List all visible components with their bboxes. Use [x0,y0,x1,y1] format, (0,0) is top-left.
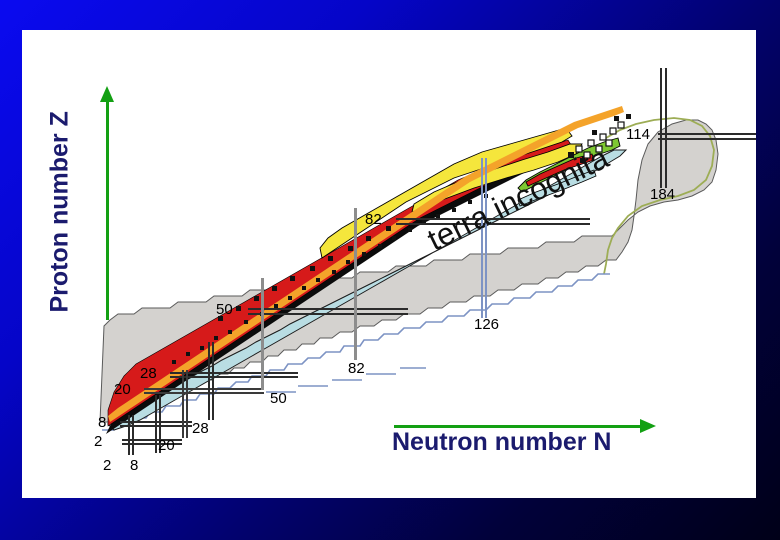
magic-label-n-20: 20 [158,437,175,454]
magic-line-z-28 [170,372,298,374]
magic-line-z-114b [658,138,756,140]
magic-label-z-8: 8 [98,414,106,431]
magic-line-n-2 [128,415,130,455]
presentation-slide: 2 8 20 28 50 82 114 2 8 20 28 50 82 126 … [0,0,780,540]
magic-label-n-184: 184 [650,186,675,203]
magic-label-z-114: 114 [626,126,650,143]
magic-line-n-50 [261,278,264,390]
magic-label-n-126: 126 [474,316,499,333]
magic-line-n-28b [212,342,214,420]
magic-label-z-20: 20 [114,381,131,398]
magic-line-n-20 [182,370,184,438]
magic-line-z-20 [144,388,264,390]
magic-line-n-184 [660,68,662,188]
magic-line-n-184b [665,68,667,188]
magic-line-z-50 [248,308,408,310]
magic-label-n-50: 50 [270,390,287,407]
magic-label-z-50: 50 [216,301,233,318]
magic-line-n-2b [132,415,134,455]
magic-label-z-2: 2 [94,433,102,450]
magic-line-n-126b [485,158,487,318]
magic-label-n-2: 2 [103,457,111,474]
magic-label-n-8: 8 [130,457,138,474]
magic-label-n-82: 82 [348,360,365,377]
n-axis-arrow-head-icon [640,419,656,433]
magic-line-z-114 [658,133,756,135]
z-axis-arrow-line [106,96,109,320]
x-axis-label: Neutron number N [392,428,611,457]
nuclide-chart-canvas: 2 8 20 28 50 82 114 2 8 20 28 50 82 126 … [22,30,756,498]
magic-line-n-8 [155,395,157,453]
magic-line-n-20b [186,370,188,438]
magic-label-z-28: 28 [140,365,157,382]
magic-line-n-28 [208,342,210,420]
magic-label-n-28: 28 [192,420,209,437]
magic-label-z-82: 82 [365,211,382,228]
magic-line-n-126 [481,158,483,318]
z-axis-arrow-head-icon [100,86,114,102]
y-axis-label: Proton number Z [46,113,75,313]
magic-line-z-50b [248,313,408,315]
magic-line-n-82 [354,208,357,360]
magic-line-z-20b [144,392,264,394]
magic-line-z-28b [170,376,298,378]
